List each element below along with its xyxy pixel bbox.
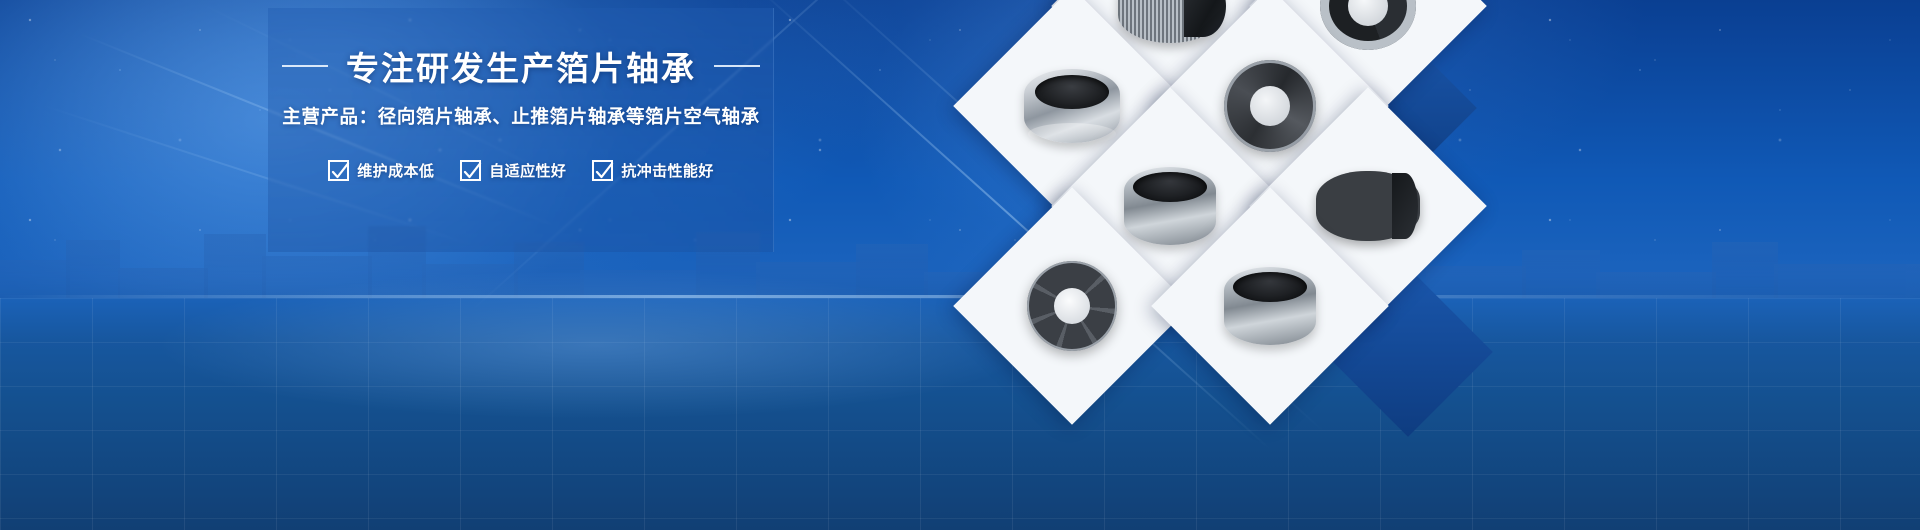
banner-copy: 专注研发生产箔片轴承 主营产品：径向箔片轴承、止推箔片轴承等箔片空气轴承 维护成… xyxy=(268,0,788,250)
checkbox-check-icon xyxy=(328,160,349,181)
rule-left-decoration xyxy=(282,65,328,67)
headline-row: 专注研发生产箔片轴承 xyxy=(268,42,774,90)
checkbox-check-icon xyxy=(592,160,613,181)
foil-strip-bearing-image xyxy=(1118,0,1222,43)
feature-item-1: 自适应性好 xyxy=(460,160,566,181)
feature-item-2: 抗冲击性能好 xyxy=(592,160,713,181)
product-collage xyxy=(900,0,1520,500)
page-title: 专注研发生产箔片轴承 xyxy=(346,42,696,90)
rule-right-decoration xyxy=(714,65,760,67)
checkbox-check-icon xyxy=(460,160,481,181)
feature-label: 维护成本低 xyxy=(357,160,434,181)
bump-foil-ring-bearing-image xyxy=(1027,261,1117,351)
steel-sleeve-bearing-image xyxy=(1024,69,1120,143)
thrust-foil-bearing-image xyxy=(1224,60,1316,152)
hero-banner: 专注研发生产箔片轴承 主营产品：径向箔片轴承、止推箔片轴承等箔片空气轴承 维护成… xyxy=(0,0,1920,530)
bushing-bearing-image xyxy=(1124,167,1216,245)
subtitle: 主营产品：径向箔片轴承、止推箔片轴承等箔片空气轴承 xyxy=(268,103,774,129)
corrugated-foil-bearing-image xyxy=(1316,171,1420,241)
feature-label: 抗冲击性能好 xyxy=(621,160,713,181)
feature-item-0: 维护成本低 xyxy=(328,160,434,181)
feature-label: 自适应性好 xyxy=(489,160,566,181)
polished-sleeve-bearing-image xyxy=(1224,267,1316,345)
feature-list: 维护成本低 自适应性好 抗冲击性能好 xyxy=(268,160,774,181)
split-ring-bearing-image xyxy=(1320,0,1416,50)
